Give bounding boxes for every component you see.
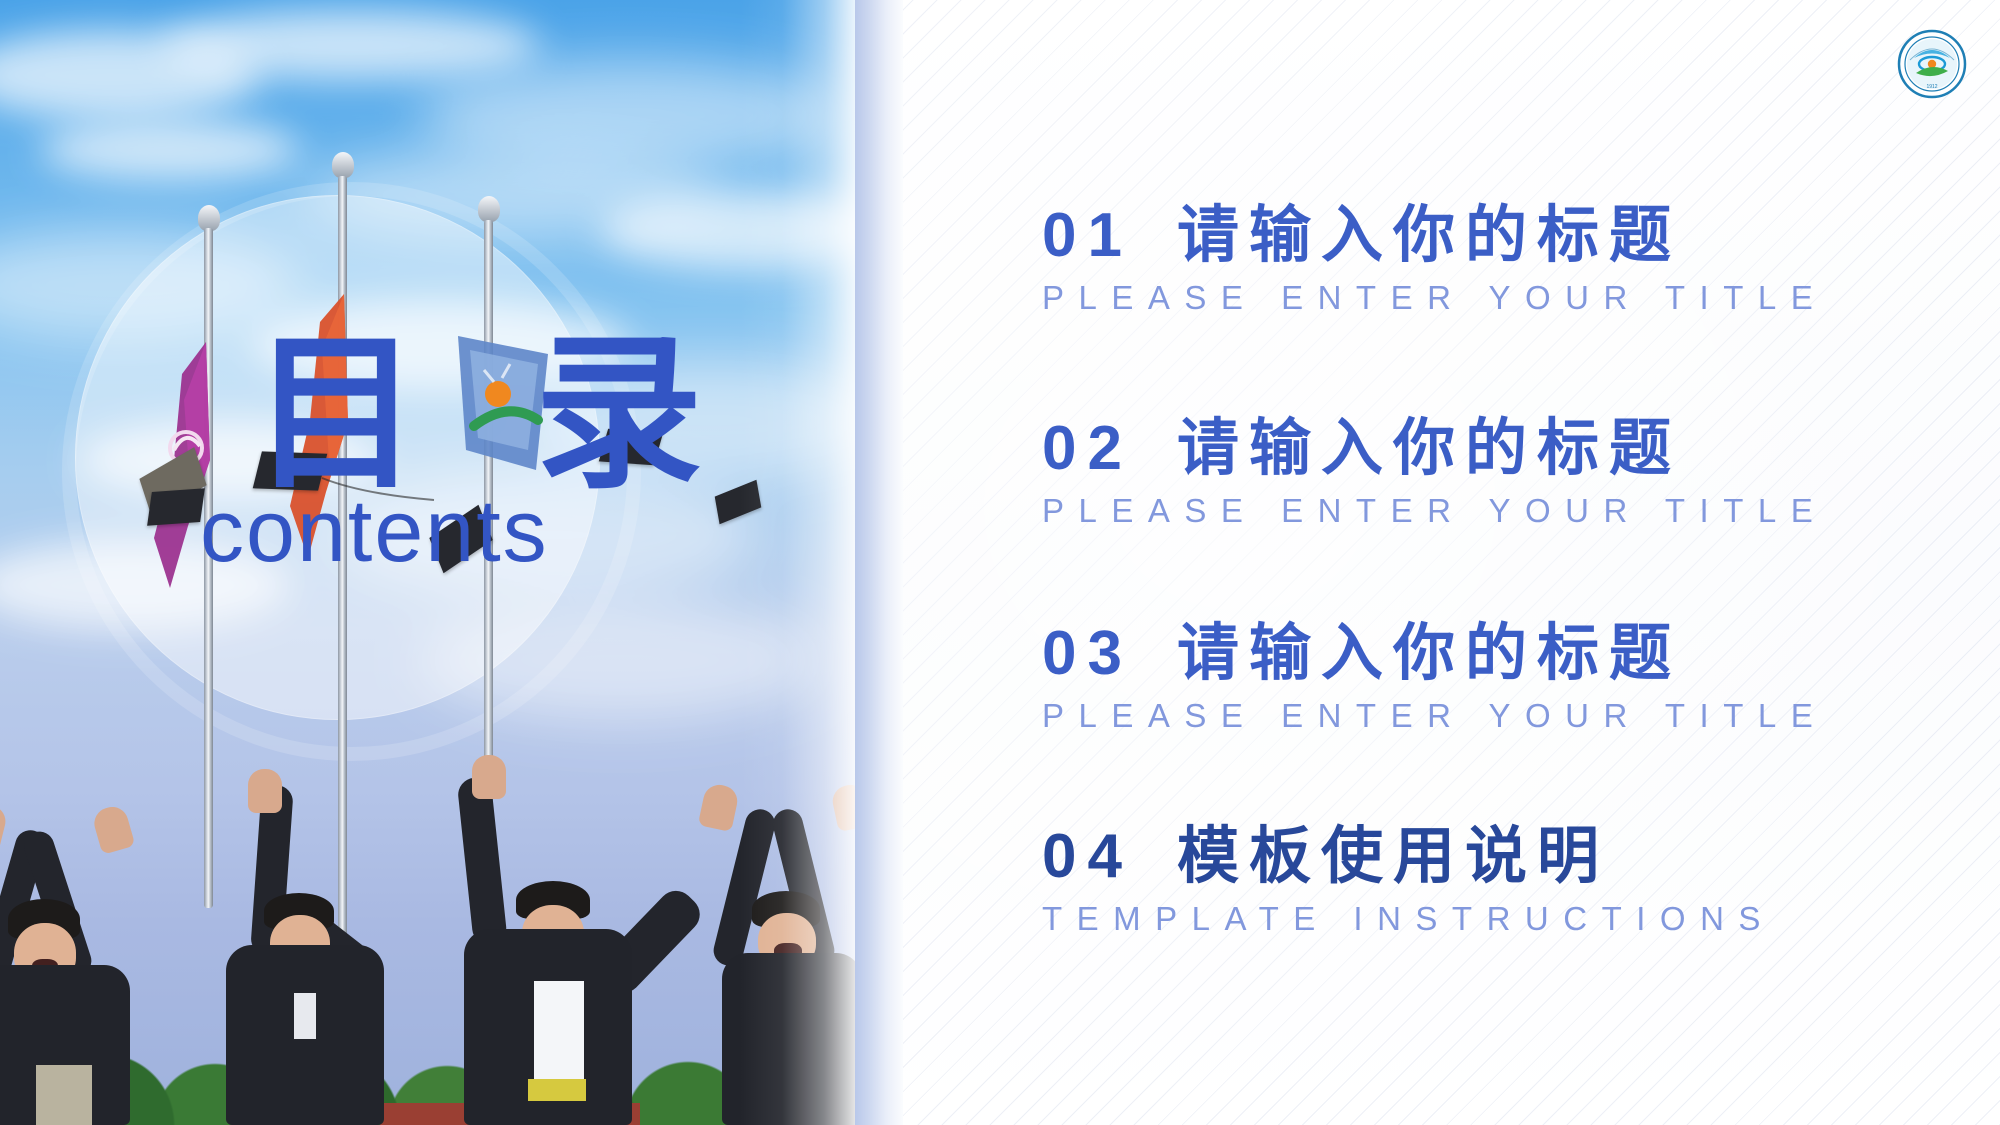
contents-item-01[interactable]: 01 请输入你的标题 PLEASE ENTER YOUR TITLE — [1042, 205, 1827, 314]
contents-list: 01 请输入你的标题 PLEASE ENTER YOUR TITLE 02 请输… — [1042, 0, 1942, 1125]
item-title-en-02: PLEASE ENTER YOUR TITLE — [1042, 494, 1827, 527]
item-title-cn-01: 请输入你的标题 — [1177, 205, 1681, 267]
panel-seam-gradient — [855, 0, 903, 1125]
contents-item-02[interactable]: 02 请输入你的标题 PLEASE ENTER YOUR TITLE — [1042, 418, 1827, 527]
contents-item-03[interactable]: 03 请输入你的标题 PLEASE ENTER YOUR TITLE — [1042, 623, 1827, 732]
item-number-03: 03 — [1042, 623, 1133, 685]
graduates-group — [0, 765, 860, 1125]
item-number-02: 02 — [1042, 418, 1133, 480]
item-title-en-01: PLEASE ENTER YOUR TITLE — [1042, 281, 1827, 314]
photo-right-fade — [740, 0, 860, 1125]
contents-item-04[interactable]: 04 模板使用说明 TEMPLATE INSTRUCTIONS — [1042, 826, 1775, 935]
item-title-en-03: PLEASE ENTER YOUR TITLE — [1042, 699, 1827, 732]
item-title-cn-02: 请输入你的标题 — [1177, 418, 1681, 480]
graduation-cap-2 — [148, 487, 204, 528]
item-title-cn-03: 请输入你的标题 — [1177, 623, 1681, 685]
graduate-2 — [200, 795, 410, 1125]
slide-canvas: 目 录 contents 1912 01 请输入你的标题 PLEASE ENTE… — [0, 0, 2000, 1125]
item-title-en-04: TEMPLATE INSTRUCTIONS — [1042, 902, 1775, 935]
graduate-1 — [0, 825, 160, 1125]
toc-heading-en: contents — [200, 487, 549, 575]
item-number-01: 01 — [1042, 205, 1133, 267]
item-title-cn-04: 模板使用说明 — [1177, 826, 1609, 888]
item-number-04: 04 — [1042, 826, 1133, 888]
toc-heading-cn: 目 录 — [252, 330, 737, 498]
graduate-3 — [430, 785, 660, 1125]
